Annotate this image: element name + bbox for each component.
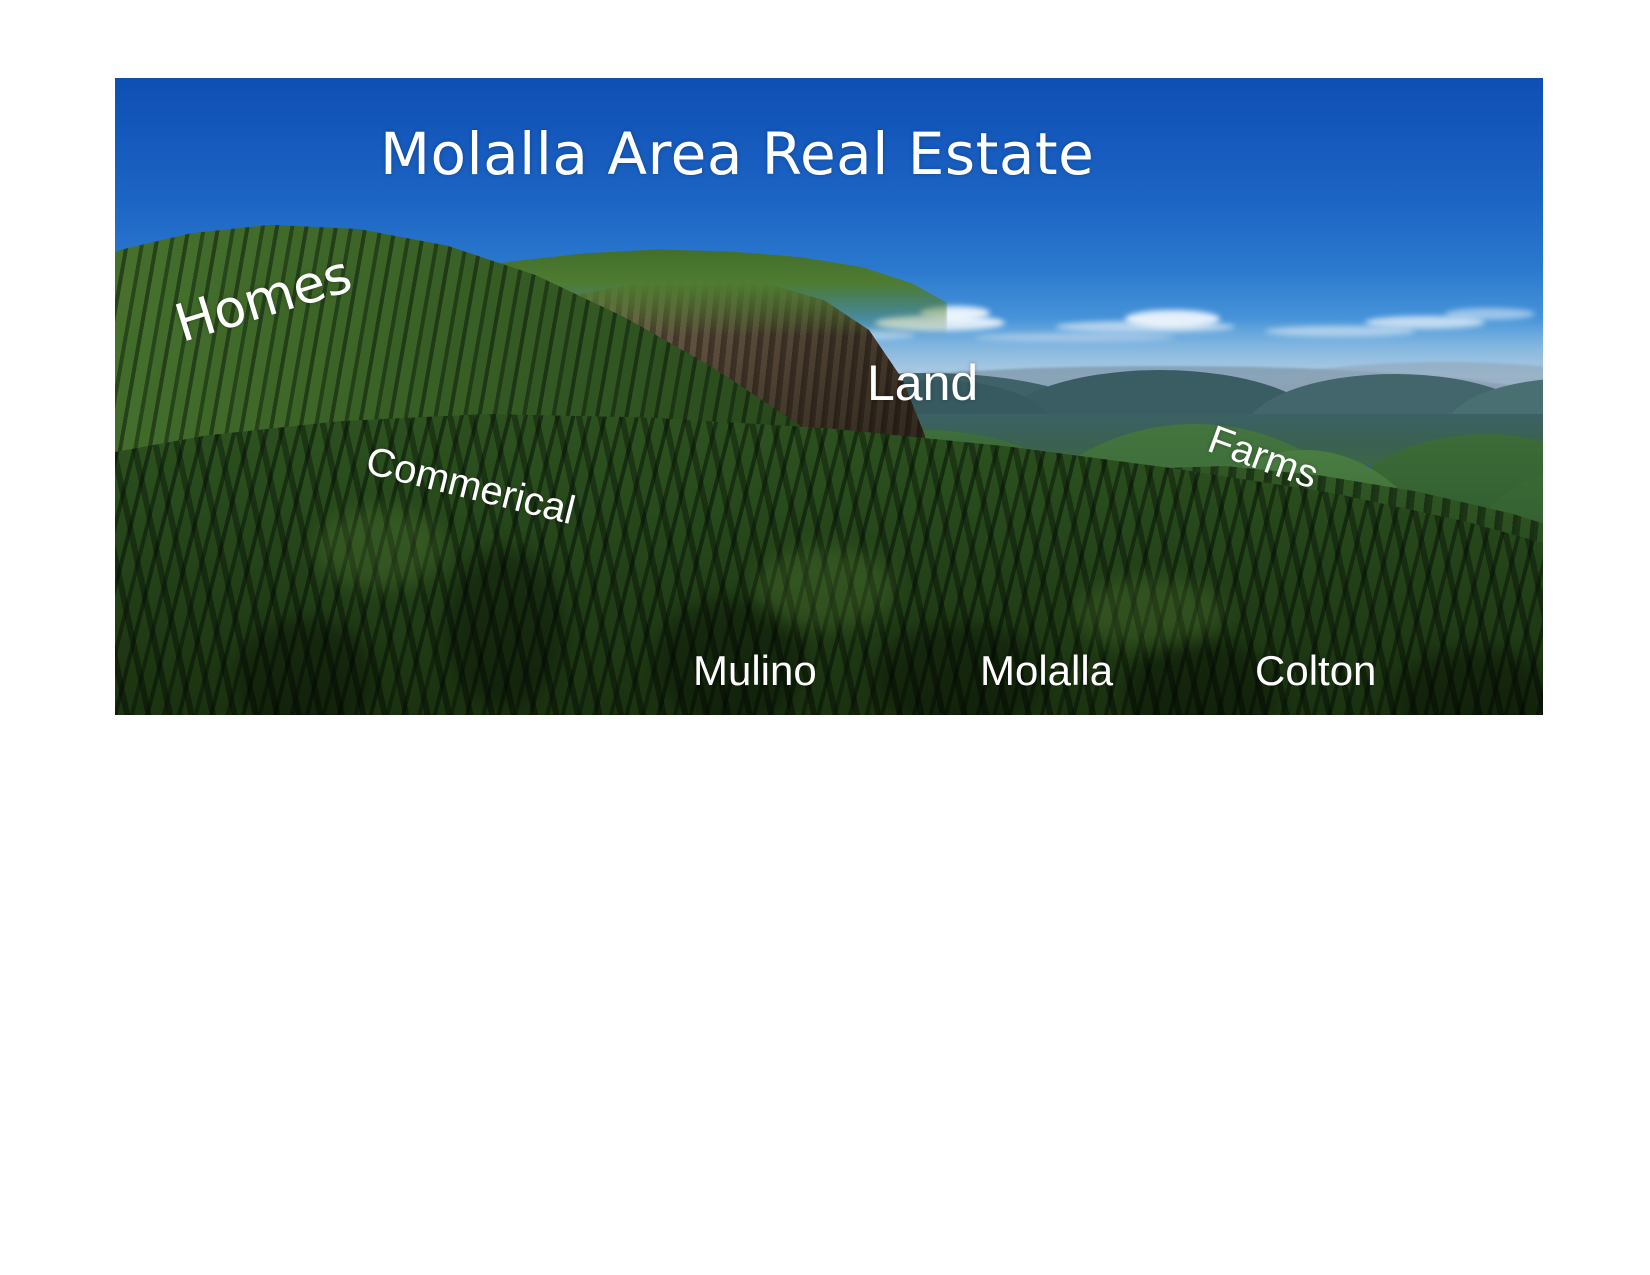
town-label-colton[interactable]: Colton	[1255, 650, 1376, 692]
forest-highlight-blob	[315, 508, 445, 588]
page-canvas: Molalla Area Real Estate Homes Commerica…	[0, 0, 1650, 1275]
banner-title: Molalla Area Real Estate	[380, 125, 1094, 183]
forest-highlight-blob	[1075, 578, 1225, 648]
town-label-molalla[interactable]: Molalla	[980, 650, 1113, 692]
banner-image: Molalla Area Real Estate Homes Commerica…	[115, 78, 1543, 715]
category-label-land[interactable]: Land	[867, 358, 978, 408]
forest-shadow-blob	[445, 548, 565, 708]
town-label-mulino[interactable]: Mulino	[693, 650, 817, 692]
forest-highlight-blob	[755, 548, 895, 628]
